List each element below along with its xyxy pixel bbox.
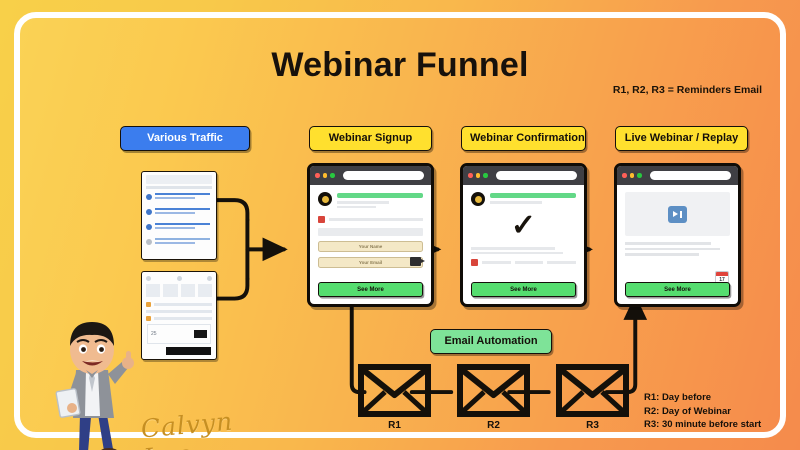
minimize-dot-icon[interactable] [476,173,481,178]
text-line [146,310,212,313]
cta-bar [166,347,211,355]
envelope-icon [556,364,629,417]
headline-bar [337,193,423,198]
text-line [482,261,511,264]
label-webinar-confirmation[interactable]: Webinar Confirmation [461,126,586,151]
hero-row [471,192,576,206]
page-body: Your Name Your Email See More [310,185,431,304]
list-item [146,193,212,201]
footer-row [471,259,576,266]
minimize-dot-icon[interactable] [323,173,328,178]
content-block [318,228,423,236]
square-marker-icon [146,316,151,321]
diagram-canvas: Webinar Funnel R1, R2, R3 = Reminders Em… [20,18,780,432]
see-more-button[interactable]: See More [318,282,423,297]
bullet-dot-icon [146,224,152,230]
text-block [625,242,730,256]
square-marker-icon [146,359,151,360]
text-line [337,206,376,209]
card-toolbar [142,272,216,284]
note-line: R3: 30 minute before start [644,418,761,432]
text-line [625,242,711,245]
maximize-dot-icon[interactable] [330,173,335,178]
browser-webinar-confirmation[interactable]: ✓ See More [460,163,587,307]
reminder-email-r2[interactable]: R2 [457,364,530,417]
note-line: R2: Day of Webinar [644,405,761,419]
hero-text [337,192,423,210]
close-dot-icon[interactable] [315,173,320,178]
bar-group [155,238,212,246]
play-pause-icon[interactable] [668,206,687,223]
page-body: ✓ See More [463,185,584,304]
card-subheader-bar [146,186,212,189]
browser-chrome [310,166,431,185]
text-line [515,261,544,264]
label-email-automation[interactable]: Email Automation [430,329,552,354]
bullet-dot-icon [146,209,152,215]
row-with-icon [146,302,212,307]
square-marker-icon [146,302,151,307]
list-item [146,223,212,231]
maximize-dot-icon[interactable] [483,173,488,178]
metric-box: 25 [147,324,211,344]
bar-group [155,223,212,231]
video-camera-icon [410,257,421,266]
text-line [625,248,720,251]
input-your-name[interactable]: Your Name [318,241,423,252]
toolbar-dot-icon [146,276,151,281]
hero-row [318,192,423,210]
see-more-button[interactable]: See More [625,282,730,297]
list-item [146,238,212,246]
browser-chrome [463,166,584,185]
label-webinar-signup[interactable]: Webinar Signup [309,126,432,151]
reminder-label: R3 [556,420,629,431]
card-header-bar [146,175,212,184]
checkmark-icon: ✓ [471,209,576,243]
text-line [471,247,555,250]
close-dot-icon[interactable] [468,173,473,178]
browser-webinar-signup[interactable]: Your Name Your Email See More [307,163,434,307]
address-bar[interactable] [650,171,732,180]
bullet-dot-icon [146,194,152,200]
text-line [490,201,542,204]
envelope-icon [358,364,431,417]
text-line [547,261,576,264]
traffic-source-card-list[interactable] [141,171,217,260]
browser-live-webinar[interactable]: 17 See More [614,163,741,307]
poster-frame: Webinar Funnel R1, R2, R3 = Reminders Em… [14,12,786,438]
list-item [146,208,212,216]
close-dot-icon[interactable] [622,173,627,178]
text-line [625,253,699,256]
headline-bar [490,193,576,198]
row-with-icon [146,316,212,321]
maximize-dot-icon[interactable] [637,173,642,178]
address-bar[interactable] [496,171,578,180]
text-line [471,252,563,255]
metric-block [194,330,207,338]
text-line [329,218,423,221]
column-group [146,284,212,297]
avatar [318,192,332,206]
bullet-dot-icon [146,239,152,245]
note-line: R1: Day before [644,391,761,405]
calendar-alert-icon [471,259,478,266]
toolbar-dot-icon [177,276,182,281]
see-more-button[interactable]: See More [471,282,576,297]
row-with-icon [146,359,212,360]
reminder-email-r3[interactable]: R3 [556,364,629,417]
address-bar[interactable] [343,171,425,180]
presenter-avatar-illustration [46,318,138,450]
reminder-email-r1[interactable]: R1 [358,364,431,417]
bar-group [155,208,212,216]
input-your-email[interactable]: Your Email [318,257,423,268]
toolbar-dot-icon [207,276,212,281]
metric-value: 25 [151,331,157,337]
video-placeholder[interactable] [625,192,730,236]
alert-icon [318,216,325,223]
traffic-source-card-ad[interactable]: 25 [141,271,217,360]
text-line [337,201,389,204]
minimize-dot-icon[interactable] [630,173,635,178]
page-title: Webinar Funnel [20,46,780,85]
avatar [471,192,485,206]
label-live-webinar-replay[interactable]: Live Webinar / Replay [615,126,748,151]
bar-group [155,193,212,201]
feature-row [318,216,423,223]
reminder-schedule-notes: R1: Day before R2: Day of Webinar R3: 30… [644,391,761,432]
reminder-label: R2 [457,420,530,431]
page-body: 17 See More [617,185,738,304]
browser-chrome [617,166,738,185]
reminder-label: R1 [358,420,431,431]
label-various-traffic[interactable]: Various Traffic [120,126,250,151]
reminders-legend-note: R1, R2, R3 = Reminders Email [613,84,762,96]
hero-text [490,192,576,206]
envelope-icon [457,364,530,417]
